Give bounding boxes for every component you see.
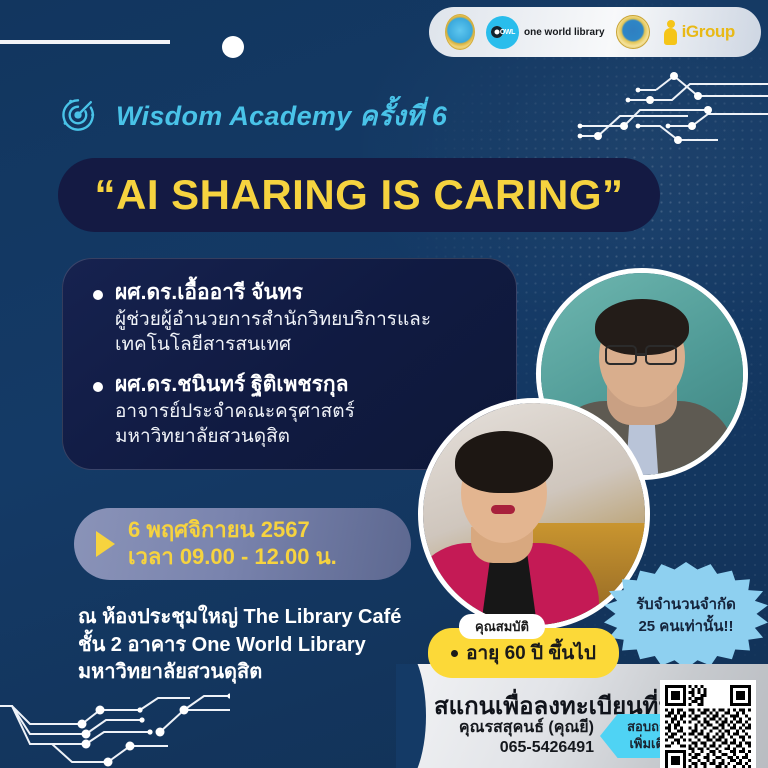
speaker-name: ผศ.ดร.เอื้ออารี จันทร (115, 279, 431, 307)
photo-glasses-right (645, 345, 677, 365)
bullet-icon (93, 290, 103, 300)
contact-name: คุณรสสุคนธ์ (คุณยี) (434, 718, 594, 738)
corner-dot-decoration (222, 36, 244, 58)
chevron-right-icon (96, 531, 115, 557)
wisdom-academy-target-icon (56, 93, 100, 137)
speaker-role-line: เทคโนโลยีสารสนเทศ (115, 332, 431, 357)
registration-qr-code[interactable] (660, 680, 756, 768)
institution-crest-icon (616, 15, 650, 49)
speaker-role-line: มหาวิทยาลัยสวนดุสิต (115, 424, 355, 449)
headline-text: “AI SHARING IS CARING” (94, 171, 623, 219)
qr-code-image (665, 685, 751, 768)
venue-line: ชั้น 2 อาคาร One World Library (78, 632, 401, 660)
speaker-role-line: ผู้ช่วยผู้อำนวยการสำนักวิทยบริการและ (115, 307, 431, 332)
venue-line: มหาวิทยาลัยสวนดุสิต (78, 659, 401, 687)
speaker-role-line: อาจารย์ประจำคณะครุศาสตร์ (115, 399, 355, 424)
schedule-pill: 6 พฤศจิกายน 2567 เวลา 09.00 - 12.00 น. (74, 508, 411, 580)
speaker-name: ผศ.ดร.ชนินทร์ ฐิติเพชรกุล (115, 371, 355, 399)
bullet-icon (93, 382, 103, 392)
headline-pill: “AI SHARING IS CARING” (58, 158, 660, 232)
partner-logo-bar: OWL one world library iGroup (429, 7, 761, 57)
footer-left-curve (396, 664, 426, 768)
one-world-library-label: one world library (524, 27, 605, 38)
one-world-library-logo: OWL one world library (486, 16, 605, 49)
venue-line: ณ ห้องประชุมใหญ่ The Library Café (78, 604, 401, 632)
igroup-logo: iGroup (661, 19, 735, 45)
photo-glasses-left (605, 345, 637, 365)
circuit-trace-bottom-left-icon (0, 690, 230, 768)
speaker-item: ผศ.ดร.เอื้ออารี จันทร ผู้ช่วยผู้อำนวยการ… (93, 279, 490, 358)
owl-mark-label: OWL (500, 29, 515, 36)
circuit-trace-top-right-icon (568, 70, 768, 150)
contact-phone[interactable]: 065-5426491 (434, 738, 594, 758)
photo-hair (455, 431, 553, 493)
igroup-mark-icon (661, 19, 680, 45)
qualification-label: คุณสมบัติ (459, 614, 545, 639)
photo-glasses-bridge (637, 353, 645, 356)
poster-canvas: OWL one world library iGroup Wisdom Acad… (0, 0, 768, 768)
event-date: 6 พฤศจิกายน 2567 (128, 517, 337, 544)
venue-block: ณ ห้องประชุมใหญ่ The Library Café ชั้น 2… (78, 604, 401, 687)
brand-row: Wisdom Academy ครั้งที่ 6 (56, 93, 447, 137)
contact-block: คุณรสสุคนธ์ (คุณยี) 065-5426491 (434, 718, 594, 759)
igroup-label: iGroup (682, 22, 735, 42)
university-seal-logo-icon (445, 14, 475, 50)
seats-line-2: 25 คนเท่านั้น!! (636, 616, 736, 639)
bullet-icon (451, 650, 458, 657)
owl-circle-icon: OWL (486, 16, 519, 49)
event-time: เวลา 09.00 - 12.00 น. (128, 544, 337, 571)
brand-title: Wisdom Academy ครั้งที่ 6 (116, 94, 447, 137)
seats-line-1: รับจำนวนจำกัด (636, 594, 736, 617)
photo-lips (491, 505, 515, 514)
qualification-value: อายุ 60 ปี ขึ้นไป (451, 638, 596, 668)
